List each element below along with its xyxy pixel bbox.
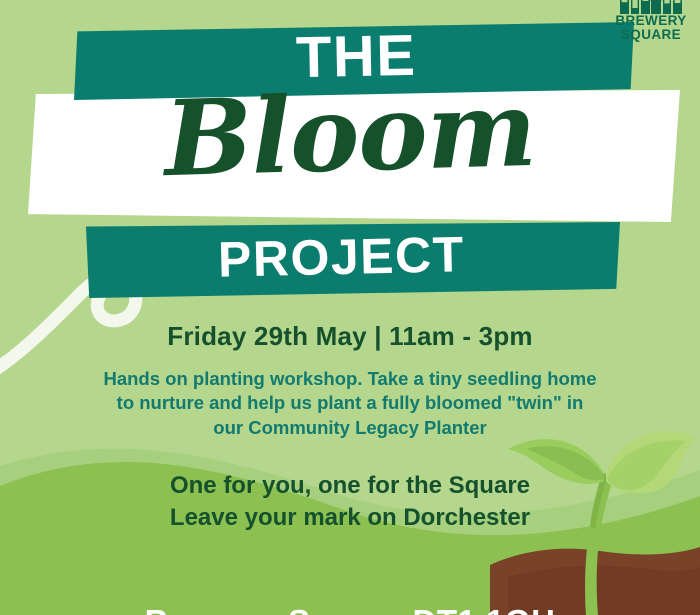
description-line-3: our Community Legacy Planter <box>46 416 654 441</box>
event-date-time: Friday 29th May | 11am - 3pm <box>0 322 700 351</box>
description-line-1: Hands on planting workshop. Take a tiny … <box>46 367 654 392</box>
venue-address: Brewery Square DT1 1GH <box>0 603 700 615</box>
logo-line-square: SQUARE <box>608 28 694 42</box>
event-description: Hands on planting workshop. Take a tiny … <box>0 367 700 441</box>
poster-title: THE Bloom PROJECT <box>0 0 700 320</box>
cta-line-1: One for you, one for the Square <box>0 470 700 501</box>
brewery-square-logo-text: BREWERY SQUARE <box>608 14 694 42</box>
title-project-text: PROJECT <box>217 229 465 285</box>
bloom-project-poster: BREWERY SQUARE THE Bloom PROJECT Friday … <box>0 0 700 615</box>
description-line-2: to nurture and help us plant a fully blo… <box>46 391 654 416</box>
event-call-to-action: One for you, one for the Square Leave yo… <box>0 470 700 532</box>
brewery-skyline-icon <box>620 0 682 14</box>
title-banner-project: PROJECT <box>86 222 620 298</box>
brewery-square-logo: BREWERY SQUARE <box>608 0 694 42</box>
poster-copy: Friday 29th May | 11am - 3pm Hands on pl… <box>0 322 700 533</box>
logo-line-brewery: BREWERY <box>608 14 694 28</box>
title-script-bloom: Bloom <box>0 72 700 196</box>
cta-line-2: Leave your mark on Dorchester <box>0 502 700 533</box>
